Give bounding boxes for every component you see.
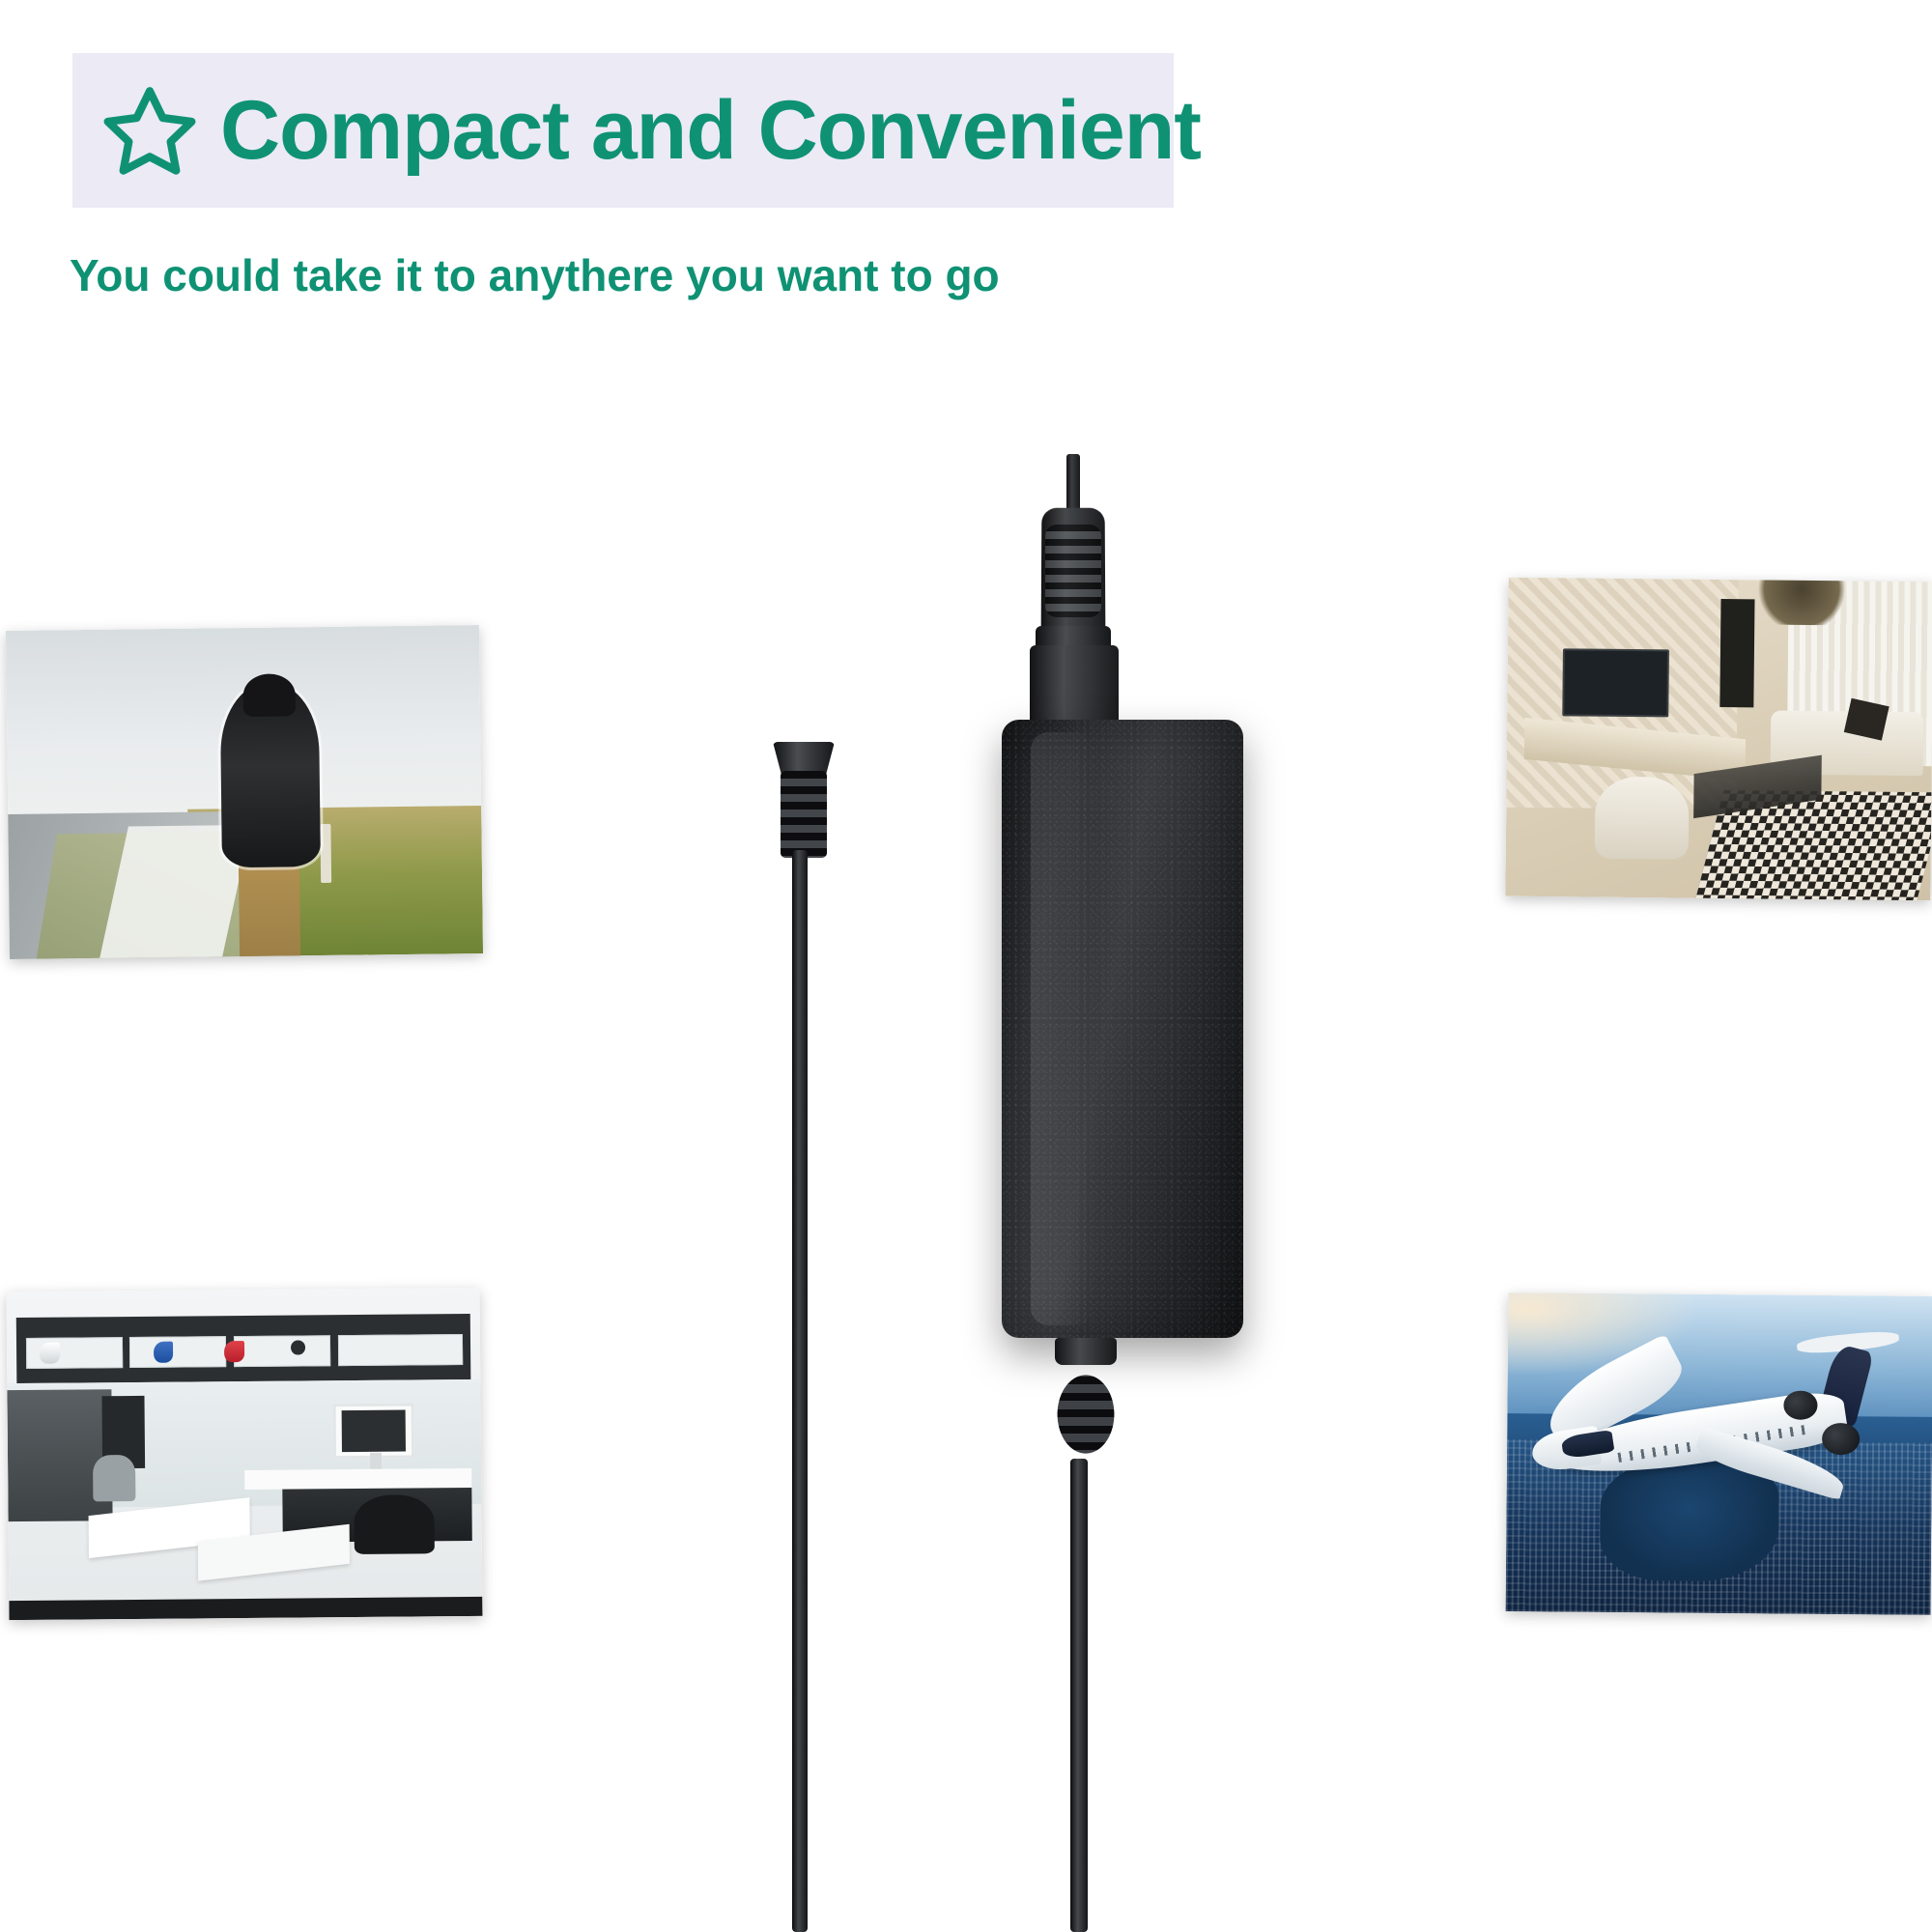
adapter-output-strain-relief-boot bbox=[1048, 1360, 1123, 1468]
ac-power-adapter bbox=[0, 0, 1932, 1932]
dc-plug-cable bbox=[792, 850, 808, 1932]
dc-barrel-plug-tip bbox=[773, 742, 835, 775]
adapter-brick-highlight bbox=[1031, 732, 1094, 1325]
adapter-output-cable bbox=[1070, 1459, 1088, 1932]
product-feature-slide: Compact and Convenient You could take it… bbox=[0, 0, 1932, 1932]
dc-plug-grip-rings bbox=[781, 771, 827, 858]
adapter-input-boot-ribs bbox=[1045, 525, 1101, 617]
adapter-brick bbox=[1002, 720, 1243, 1338]
